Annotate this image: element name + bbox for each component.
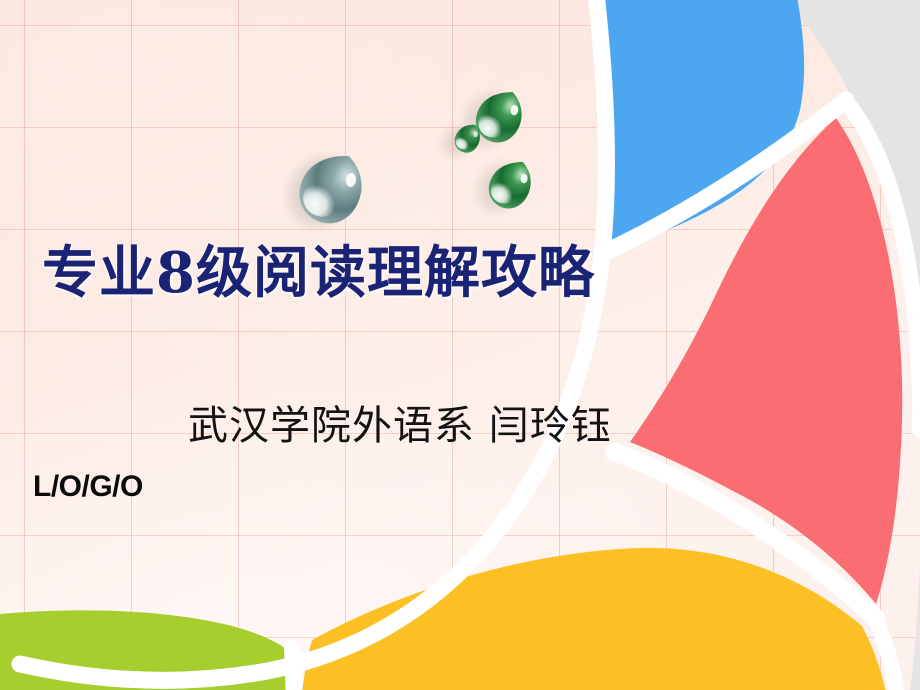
slide-canvas: 专业8级阅读理解攻略 武汉学院外语系 闫玲钰 L/O/G/O	[0, 0, 920, 690]
decorative-petal-group	[0, 0, 920, 690]
slide-title: 专业8级阅读理解攻略	[42, 243, 595, 303]
logo-text: L/O/G/O	[33, 472, 143, 502]
petal-gap-green-yellow	[292, 648, 294, 690]
slide-subtitle: 武汉学院外语系 闫玲钰	[188, 404, 612, 448]
